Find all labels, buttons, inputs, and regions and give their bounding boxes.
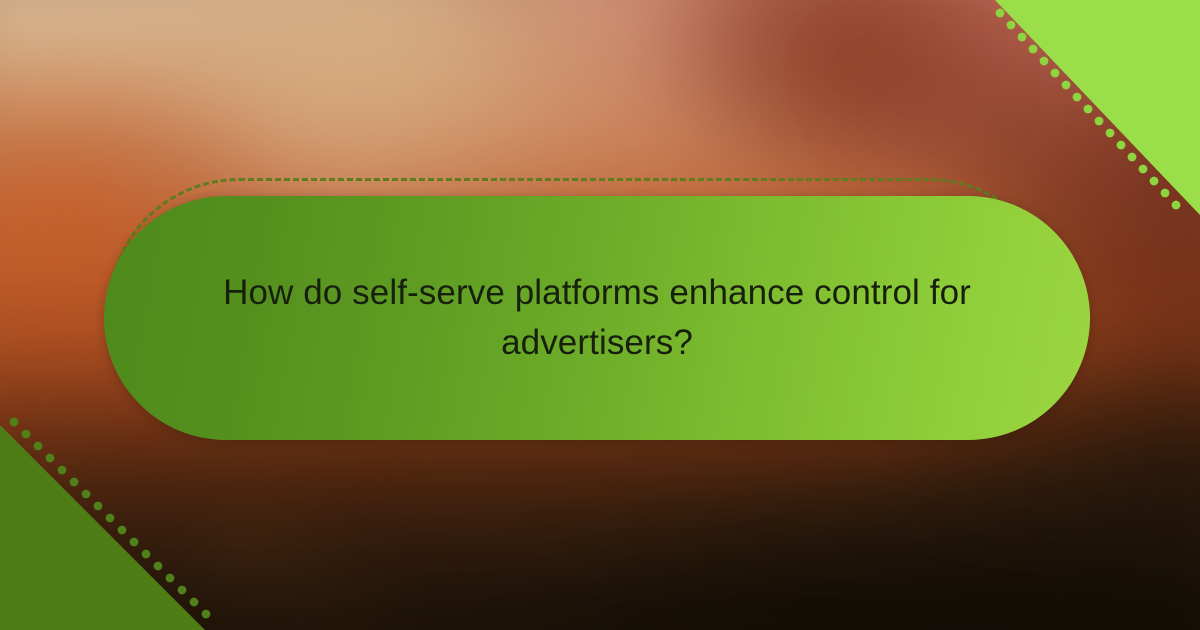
question-card: How do self-serve platforms enhance cont… — [104, 196, 1090, 440]
question-text: How do self-serve platforms enhance cont… — [197, 268, 997, 367]
question-card-graphic: How do self-serve platforms enhance cont… — [0, 0, 1200, 630]
